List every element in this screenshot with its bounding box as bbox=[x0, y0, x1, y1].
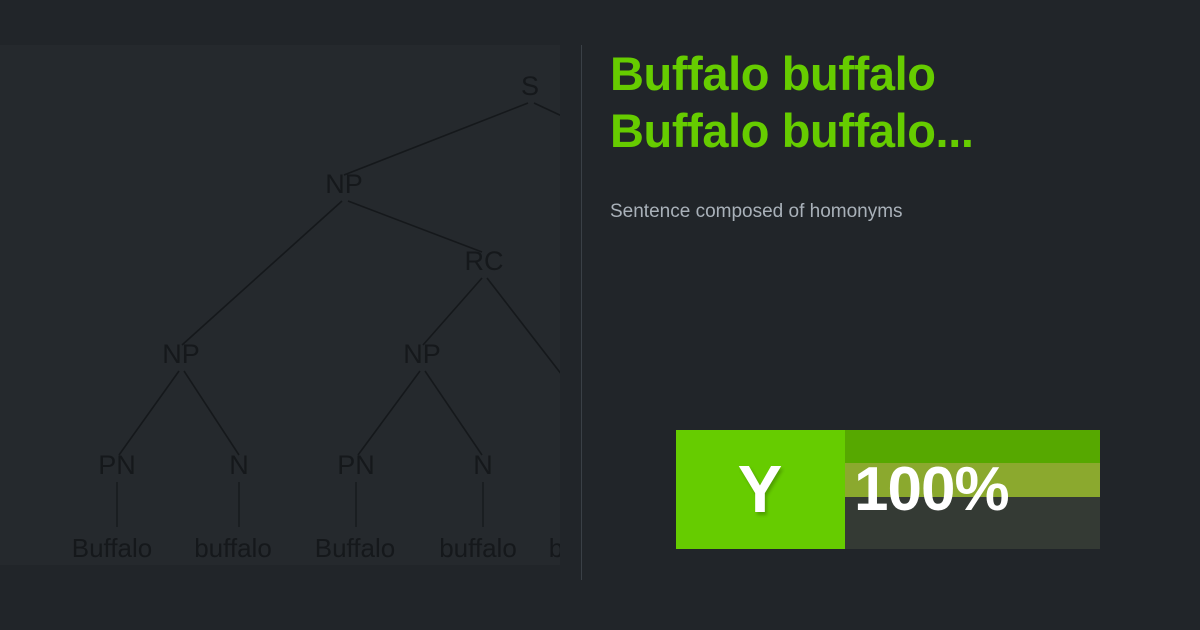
tree-node-np1: NP bbox=[325, 169, 363, 199]
social-preview-card: S NP RC NP NP PN N PN N bbox=[0, 0, 1200, 630]
vertical-divider bbox=[581, 45, 582, 580]
tree-node-rc: RC bbox=[465, 246, 504, 276]
tree-node-s: S bbox=[521, 71, 539, 101]
content-column: Buffalo buffalo Buffalo buffalo... Sente… bbox=[610, 45, 1170, 225]
tree-edge-rc-np3 bbox=[423, 278, 482, 345]
tree-edge-np2-n1 bbox=[184, 371, 239, 455]
tree-node-np2: NP bbox=[162, 339, 200, 369]
tree-node-pn2: PN bbox=[337, 450, 375, 480]
badge-logo-mark: Y bbox=[676, 430, 845, 549]
tree-edge-np1-np2 bbox=[182, 201, 342, 345]
tree-edge-rc-right-clipped bbox=[487, 278, 560, 375]
tree-leaf-word: Buffalo bbox=[315, 533, 395, 563]
score-badge: Y 100% bbox=[676, 430, 1100, 549]
tree-node-n2: N bbox=[473, 450, 493, 480]
parse-tree-figure: S NP RC NP NP PN N PN N bbox=[0, 45, 560, 565]
tree-leaf-word: b bbox=[549, 533, 560, 563]
tree-edge-np3-pn2 bbox=[358, 371, 420, 455]
tree-edge-s-np1 bbox=[344, 103, 528, 175]
tree-edge-np1-rc bbox=[348, 201, 482, 252]
tree-node-np3: NP bbox=[403, 339, 441, 369]
badge-percent-value: 100% bbox=[845, 430, 1100, 549]
tree-leaf-word: Buffalo bbox=[72, 533, 152, 563]
tree-node-pn1: PN bbox=[98, 450, 136, 480]
page-subtitle: Sentence composed of homonyms bbox=[610, 159, 1170, 225]
badge-logo-letter: Y bbox=[738, 456, 784, 523]
page-title: Buffalo buffalo Buffalo buffalo... bbox=[610, 45, 1170, 159]
badge-progress-meter: 100% bbox=[845, 430, 1100, 549]
tree-leaf-word: buffalo bbox=[439, 533, 517, 563]
tree-leaf-word: buffalo bbox=[194, 533, 272, 563]
tree-edge-s-right-clipped bbox=[534, 103, 560, 116]
tree-edge-np3-n2 bbox=[425, 371, 482, 455]
tree-edge-np2-pn1 bbox=[119, 371, 179, 455]
